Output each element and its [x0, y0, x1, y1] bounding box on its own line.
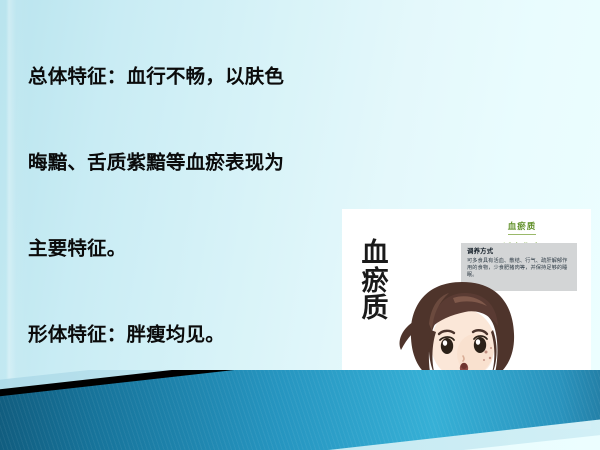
vertical-title-char: 血: [352, 240, 398, 268]
body-line: 总体特征：血行不畅，以肤色: [28, 63, 344, 92]
info-box-title: 调养方式: [467, 247, 572, 255]
slide-body-text: 总体特征：血行不畅，以肤色 晦黯、舌质紫黯等血瘀表现为 主要特征。 形体特征：胖…: [28, 6, 344, 450]
body-line: 主要特征。: [28, 235, 344, 264]
body-line: 形体特征：胖瘦均见。: [28, 321, 344, 350]
card-header-line1: 血瘀质: [508, 220, 537, 235]
worried-girl-illustration: [387, 276, 537, 428]
presentation-slide: 总体特征：血行不畅，以肤色 晦黯、舌质紫黯等血瘀表现为 主要特征。 形体特征：胖…: [0, 0, 600, 450]
illustration-card: 血 瘀 质 血瘀质 活血化瘀 调养方式 可多食具有活血、散结、行气、疏肝解郁作用…: [343, 210, 590, 428]
body-line: 常见表现：肤色晦黯，色素沉: [28, 406, 344, 435]
body-line: 晦黯、舌质紫黯等血瘀表现为: [28, 149, 344, 178]
